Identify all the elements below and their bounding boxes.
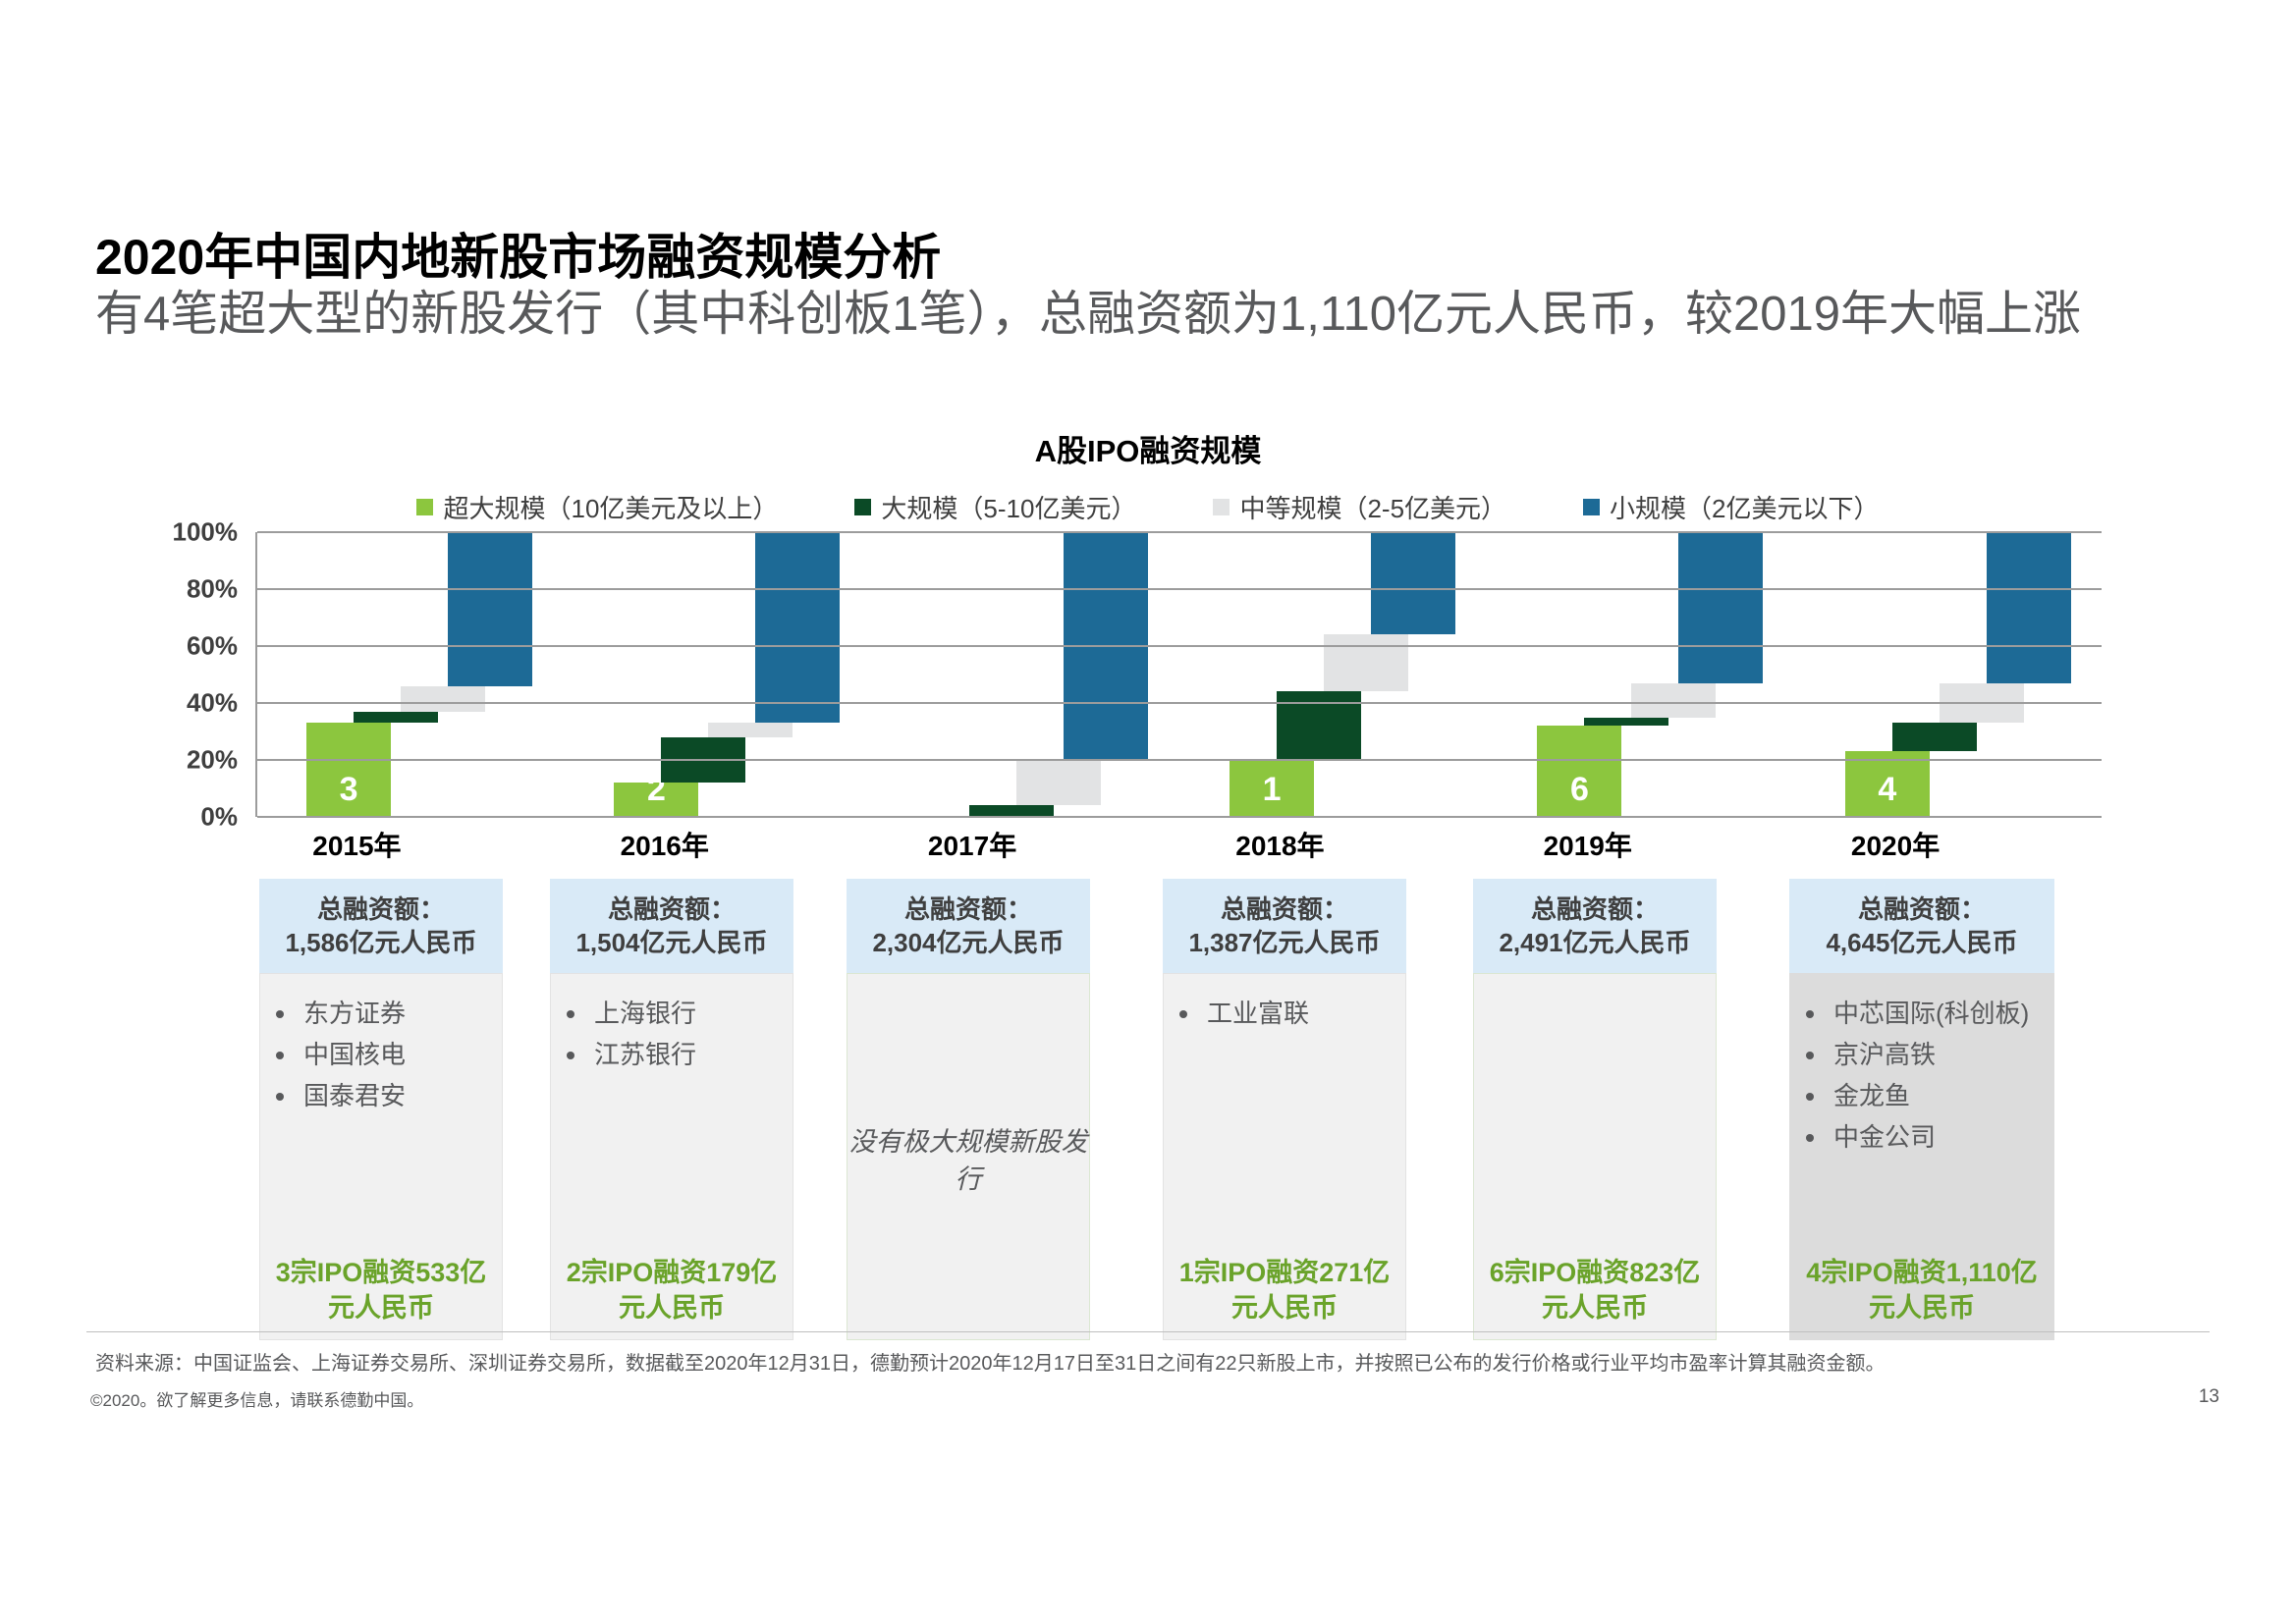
bar-segment[interactable]	[708, 723, 793, 737]
legend-swatch-icon	[1583, 499, 1600, 515]
card-body: 工业富联1宗IPO融资271亿元人民币	[1163, 973, 1406, 1340]
card-empty-note: 没有极大规模新股发行	[847, 1123, 1089, 1198]
bar-segment[interactable]	[448, 532, 532, 686]
legend-item-1[interactable]: 大规模（5-10亿美元）	[854, 489, 1136, 525]
x-axis-label-2019年: 2019年	[1544, 825, 1632, 864]
bar-segment[interactable]	[755, 532, 840, 723]
card-total-label: 总融资额：	[556, 892, 788, 926]
list-item: 金龙鱼	[1800, 1078, 2044, 1113]
source-note: 资料来源：中国证监会、上海证券交易所、深圳证券交易所，数据截至2020年12月3…	[95, 1347, 2236, 1376]
card-total-label: 总融资额：	[1479, 892, 1711, 926]
year-card-2016年[interactable]: 总融资额：1,504亿元人民币上海银行江苏银行2宗IPO融资179亿元人民币	[550, 879, 793, 1340]
card-total-value: 1,586亿元人民币	[265, 926, 497, 959]
legend-item-0[interactable]: 超大规模（10亿美元及以上）	[416, 489, 778, 525]
list-item: 江苏银行	[561, 1037, 783, 1072]
legend-item-3[interactable]: 小规模（2亿美元以下）	[1583, 489, 1879, 525]
gridline	[257, 531, 2102, 533]
card-company-list: 东方证券中国核电国泰君安	[270, 996, 492, 1113]
card-ipo-summary: 6宗IPO融资823亿元人民币	[1474, 1255, 1716, 1325]
bar-group-2020年: 4	[1796, 532, 2104, 817]
bar-segment[interactable]	[1584, 718, 1668, 727]
card-total-amount-header: 总融资额：1,586亿元人民币	[259, 879, 503, 973]
bar-segment[interactable]	[1016, 760, 1101, 805]
bar-segment[interactable]	[1631, 683, 1716, 718]
card-total-amount-header: 总融资额：4,645亿元人民币	[1789, 879, 2054, 973]
card-company-list: 中芯国际(科创板)京沪高铁金龙鱼中金公司	[1800, 996, 2044, 1155]
gridline	[257, 759, 2102, 761]
gridline	[257, 702, 2102, 704]
bar-value-label: 3	[306, 771, 391, 809]
bar-segment[interactable]	[401, 686, 485, 712]
legend-swatch-icon	[416, 499, 433, 515]
bar-group-2018年: 1	[1180, 532, 1488, 817]
list-item: 东方证券	[270, 996, 492, 1031]
card-company-list: 工业富联	[1174, 996, 1395, 1031]
y-axis: 0%20%40%60%80%100%	[157, 532, 247, 817]
gridline	[257, 816, 2102, 818]
bar-value-label: 6	[1537, 771, 1621, 809]
list-item: 国泰君安	[270, 1078, 492, 1113]
y-axis-tick-label: 60%	[187, 631, 238, 662]
year-card-2019年[interactable]: 总融资额：2,491亿元人民币6宗IPO融资823亿元人民币	[1473, 879, 1717, 1340]
legend-label: 小规模（2亿美元以下）	[1610, 489, 1879, 525]
x-axis-labels: 2015年2016年2017年2018年2019年2020年	[255, 825, 2102, 874]
bar-segment[interactable]	[1987, 532, 2071, 683]
legend-label: 超大规模（10亿美元及以上）	[443, 489, 778, 525]
year-card-2015年[interactable]: 总融资额：1,586亿元人民币东方证券中国核电国泰君安3宗IPO融资533亿元人…	[259, 879, 503, 1340]
card-total-value: 2,491亿元人民币	[1479, 926, 1711, 959]
x-axis-label-2020年: 2020年	[1851, 825, 1940, 864]
legend-item-2[interactable]: 中等规模（2-5亿美元）	[1213, 489, 1506, 525]
card-total-value: 1,504亿元人民币	[556, 926, 788, 959]
card-body: 没有极大规模新股发行	[847, 973, 1090, 1340]
card-total-label: 总融资额：	[265, 892, 497, 926]
card-body: 东方证券中国核电国泰君安3宗IPO融资533亿元人民币	[259, 973, 503, 1340]
bar-segment[interactable]: 3	[306, 723, 391, 817]
card-ipo-summary: 3宗IPO融资533亿元人民币	[260, 1255, 502, 1325]
legend-label: 大规模（5-10亿美元）	[881, 489, 1136, 525]
page-title: 2020年中国内地新股市场融资规模分析	[95, 218, 941, 289]
legend-swatch-icon	[1213, 499, 1230, 515]
list-item: 中芯国际(科创板)	[1800, 996, 2044, 1031]
bar-group-2019年: 6	[1488, 532, 1795, 817]
y-axis-tick-label: 20%	[187, 745, 238, 776]
list-item: 上海银行	[561, 996, 783, 1031]
bar-segment[interactable]	[354, 712, 438, 724]
bar-segment[interactable]	[1371, 532, 1455, 634]
page-number: 13	[2199, 1386, 2219, 1408]
y-axis-tick-label: 0%	[200, 802, 238, 833]
card-total-label: 总融资额：	[852, 892, 1084, 926]
legend-label: 中等规模（2-5亿美元）	[1239, 489, 1506, 525]
card-total-amount-header: 总融资额：1,387亿元人民币	[1163, 879, 1406, 973]
bar-value-label: 1	[1230, 771, 1314, 809]
x-axis-label-2016年: 2016年	[621, 825, 709, 864]
x-axis-label-2018年: 2018年	[1235, 825, 1324, 864]
bar-group-2017年	[873, 532, 1180, 817]
card-ipo-summary: 2宗IPO融资179亿元人民币	[551, 1255, 793, 1325]
y-axis-tick-label: 100%	[173, 517, 239, 548]
card-total-amount-header: 总融资额：2,304亿元人民币	[847, 879, 1090, 973]
card-total-label: 总融资额：	[1169, 892, 1400, 926]
bar-segment[interactable]	[1892, 723, 1977, 751]
copyright-note: ©2020。欲了解更多信息，请联系德勤中国。	[90, 1386, 423, 1411]
bar-segment[interactable]: 6	[1537, 726, 1621, 817]
x-axis-label-2017年: 2017年	[928, 825, 1016, 864]
year-card-2020年[interactable]: 总融资额：4,645亿元人民币中芯国际(科创板)京沪高铁金龙鱼中金公司4宗IPO…	[1789, 879, 2054, 1340]
chart-title: A股IPO融资规模	[0, 426, 2296, 470]
x-axis-label-2015年: 2015年	[312, 825, 401, 864]
card-ipo-summary: 4宗IPO融资1,110亿元人民币	[1790, 1255, 2053, 1325]
card-body: 6宗IPO融资823亿元人民币	[1473, 973, 1717, 1340]
card-total-label: 总融资额：	[1795, 892, 2049, 926]
card-total-amount-header: 总融资额：1,504亿元人民币	[550, 879, 793, 973]
bar-group-2015年: 3	[257, 532, 565, 817]
list-item: 中国核电	[270, 1037, 492, 1072]
y-axis-tick-label: 80%	[187, 574, 238, 605]
list-item: 中金公司	[1800, 1119, 2044, 1155]
bar-series-container: 32164	[257, 532, 2102, 817]
chart-plot-area: 0%20%40%60%80%100% 32164	[157, 532, 2102, 817]
bar-segment[interactable]	[1678, 532, 1763, 683]
list-item: 工业富联	[1174, 996, 1395, 1031]
bar-segment[interactable]: 2	[614, 783, 698, 817]
plot-canvas: 32164	[255, 532, 2102, 817]
bar-group-2016年: 2	[565, 532, 872, 817]
year-card-2018年[interactable]: 总融资额：1,387亿元人民币工业富联1宗IPO融资271亿元人民币	[1163, 879, 1406, 1340]
card-total-amount-header: 总融资额：2,491亿元人民币	[1473, 879, 1717, 973]
bar-segment[interactable]	[1324, 634, 1408, 691]
card-total-value: 1,387亿元人民币	[1169, 926, 1400, 959]
year-card-2017年[interactable]: 总融资额：2,304亿元人民币没有极大规模新股发行	[847, 879, 1090, 1340]
card-body: 中芯国际(科创板)京沪高铁金龙鱼中金公司4宗IPO融资1,110亿元人民币	[1789, 973, 2054, 1340]
slide-root: 2020年中国内地新股市场融资规模分析 有4笔超大型的新股发行（其中科创板1笔）…	[0, 0, 2296, 1622]
bar-segment[interactable]: 1	[1230, 760, 1314, 817]
page-subtitle: 有4笔超大型的新股发行（其中科创板1笔），总融资额为1,110亿元人民币，较20…	[95, 283, 2167, 346]
bar-segment[interactable]: 4	[1845, 751, 1930, 817]
legend-swatch-icon	[854, 499, 871, 515]
chart-legend: 超大规模（10亿美元及以上）大规模（5-10亿美元）中等规模（2-5亿美元）小规…	[0, 489, 2296, 525]
list-item: 京沪高铁	[1800, 1037, 2044, 1072]
card-company-list: 上海银行江苏银行	[561, 996, 783, 1072]
gridline	[257, 588, 2102, 590]
y-axis-tick-label: 40%	[187, 688, 238, 719]
card-total-value: 2,304亿元人民币	[852, 926, 1084, 959]
card-body: 上海银行江苏银行2宗IPO融资179亿元人民币	[550, 973, 793, 1340]
gridline	[257, 645, 2102, 647]
card-total-value: 4,645亿元人民币	[1795, 926, 2049, 959]
footer-divider	[86, 1331, 2210, 1332]
year-detail-cards: 总融资额：1,586亿元人民币东方证券中国核电国泰君安3宗IPO融资533亿元人…	[0, 879, 2296, 1330]
bar-value-label: 4	[1845, 771, 1930, 809]
card-ipo-summary: 1宗IPO融资271亿元人民币	[1164, 1255, 1405, 1325]
